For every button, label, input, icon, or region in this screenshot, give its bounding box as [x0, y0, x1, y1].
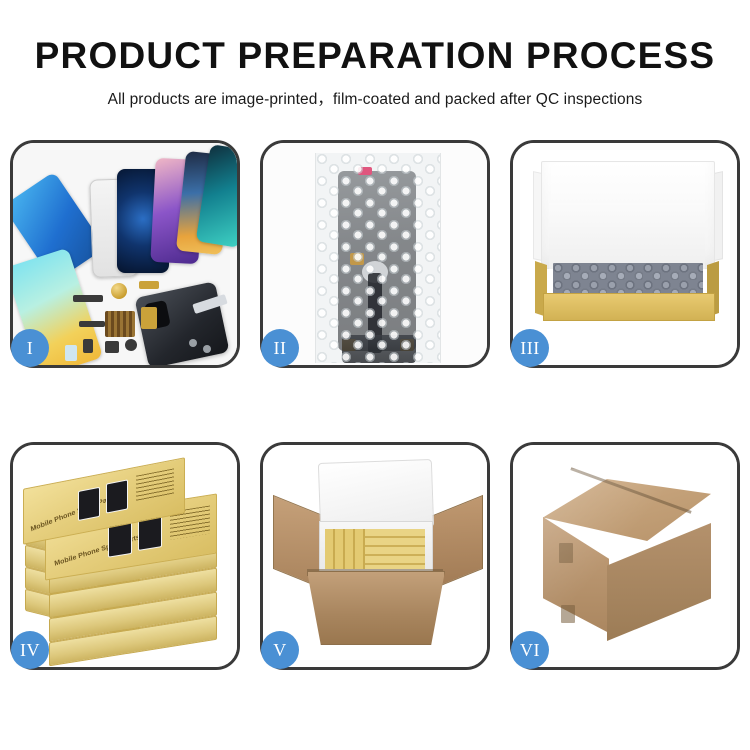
steps-grid: I II [10, 140, 740, 685]
scene-stacked-retail-boxes: Mobile Phone Spare Parts Mobile Phone Sp… [13, 445, 237, 667]
battery-cell [65, 345, 77, 361]
step-panel-1[interactable]: I [10, 140, 240, 368]
carton-tab-lower [561, 605, 575, 623]
button-set [105, 341, 119, 353]
scene-bubble-wrapped-screen [263, 143, 487, 365]
gold-flex-tab [139, 281, 159, 289]
gold-inner-box-front [543, 293, 715, 321]
carton-right-face [607, 523, 711, 641]
bubble-texture [316, 153, 440, 363]
step-image-1 [13, 143, 237, 365]
scene-foam-inner-box [513, 143, 737, 365]
screws [189, 339, 197, 347]
step-image-3 [513, 143, 737, 365]
page-title: PRODUCT PREPARATION PROCESS [0, 0, 750, 77]
screws-extra [203, 345, 211, 353]
gold-connector [141, 307, 157, 329]
step-badge-6: VI [511, 631, 549, 669]
sim-tray [83, 339, 93, 353]
step-badge-5: V [261, 631, 299, 669]
product-preparation-infographic: PRODUCT PREPARATION PROCESS All products… [0, 0, 750, 750]
step-image-4: Mobile Phone Spare Parts Mobile Phone Sp… [13, 445, 237, 667]
screw-pack [125, 339, 137, 351]
step-image-2 [263, 143, 487, 365]
ic-chip [105, 311, 135, 337]
header: PRODUCT PREPARATION PROCESS All products… [0, 0, 750, 109]
vibration-motor [111, 283, 127, 299]
step-panel-4[interactable]: Mobile Phone Spare Parts Mobile Phone Sp… [10, 442, 240, 670]
scene-loose-parts [13, 143, 237, 365]
step-badge-4: IV [11, 631, 49, 669]
step-image-6 [513, 445, 737, 667]
scene-sealed-carton [513, 445, 737, 667]
scene-carton-loading [263, 445, 487, 667]
page-subtitle: All products are image-printed，film-coat… [0, 77, 750, 109]
step-badge-3: III [511, 329, 549, 367]
step-badge-1: I [11, 329, 49, 367]
box-spec-lines-top [136, 468, 174, 501]
step-panel-3[interactable]: III [510, 140, 740, 368]
carton-left-face [543, 517, 609, 633]
carton-tab-upper [559, 543, 573, 563]
antenna-strip [79, 321, 105, 327]
step-image-5 [263, 445, 487, 667]
step-panel-2[interactable]: II [260, 140, 490, 368]
step-badge-2: II [261, 329, 299, 367]
box-art-screen-c [78, 487, 100, 521]
box-art-screen-d [106, 479, 128, 513]
foam-sheet [549, 203, 705, 269]
step-panel-6[interactable]: VI [510, 442, 740, 670]
step-panel-5[interactable]: V [260, 442, 490, 670]
gold-boxes-row-b [365, 529, 425, 569]
kraft-carton-body [307, 571, 445, 645]
speaker-mesh [73, 295, 103, 302]
box-label-top: Mobile Phone Spare Parts [30, 494, 116, 534]
bubble-wrap-bag [315, 153, 441, 363]
